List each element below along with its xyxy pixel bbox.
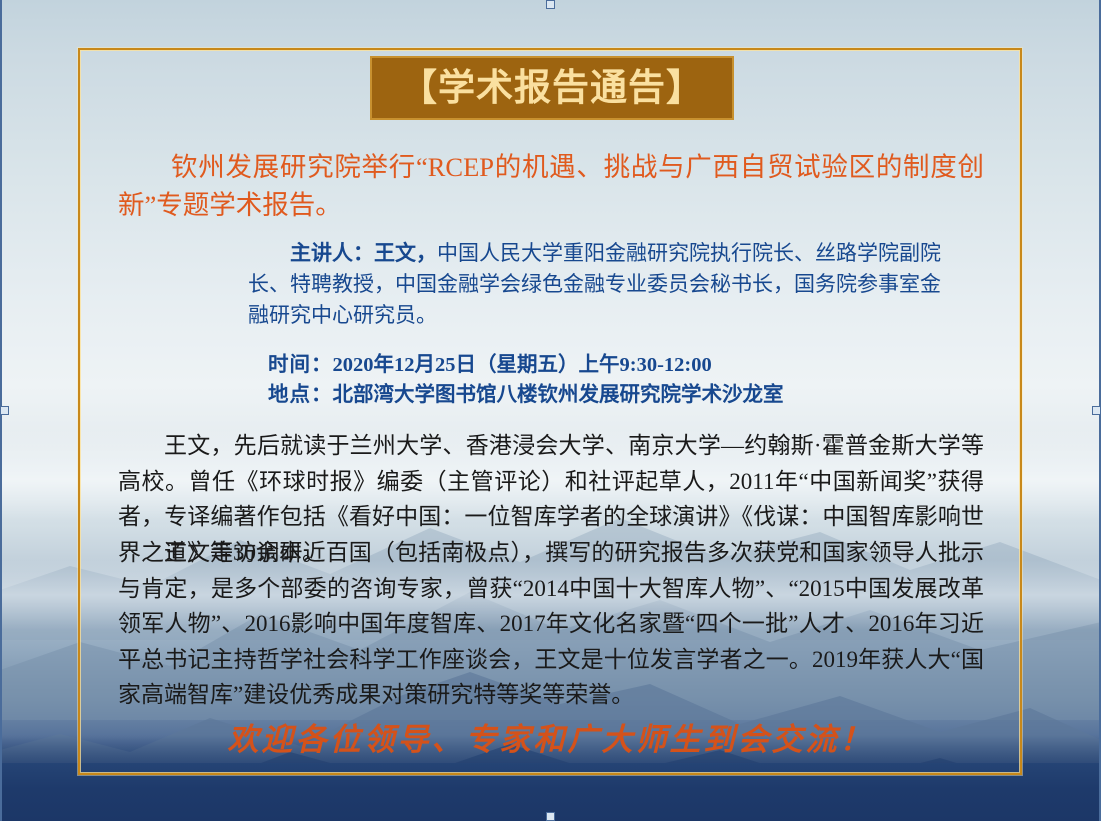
speaker-label: 主讲人：王文，: [290, 241, 437, 265]
event-location-row: 地点：北部湾大学图书馆八楼钦州发展研究院学术沙龙室: [268, 380, 968, 410]
time-value: 2020年12月25日（星期五）上午9:30-12:00: [333, 354, 712, 376]
selection-handle-middle-right[interactable]: [1092, 406, 1101, 415]
presentation-slide: 【学术报告通告】 钦州发展研究院举行“RCEP的机遇、挑战与广西自贸试验区的制度…: [0, 0, 1101, 821]
location-value: 北部湾大学图书馆八楼钦州发展研究院学术沙龙室: [333, 384, 784, 406]
speaker-block[interactable]: 主讲人：王文，中国人民大学重阳金融研究院执行院长、丝路学院副院长、特聘教授，中国…: [248, 238, 948, 331]
event-time-row: 时间：2020年12月25日（星期五）上午9:30-12:00: [268, 350, 968, 380]
selection-handle-top-center[interactable]: [546, 0, 555, 9]
topic-paragraph[interactable]: 钦州发展研究院举行“RCEP的机遇、挑战与广西自贸试验区的制度创新”专题学术报告…: [118, 148, 984, 224]
location-label: 地点：: [268, 384, 333, 406]
selection-handle-middle-left[interactable]: [0, 406, 9, 415]
time-label: 时间：: [268, 354, 333, 376]
slide-content: 钦州发展研究院举行“RCEP的机遇、挑战与广西自贸试验区的制度创新”专题学术报告…: [0, 0, 1101, 821]
event-details-block[interactable]: 时间：2020年12月25日（星期五）上午9:30-12:00 地点：北部湾大学…: [268, 350, 968, 410]
biography-paragraph-2[interactable]: 王文走访调研近百国（包括南极点），撰写的研究报告多次获党和国家领导人批示与肯定，…: [118, 535, 984, 713]
welcome-message[interactable]: 欢迎各位领导、专家和广大师生到会交流！: [0, 714, 1101, 759]
selection-handle-bottom-center[interactable]: [546, 812, 555, 821]
